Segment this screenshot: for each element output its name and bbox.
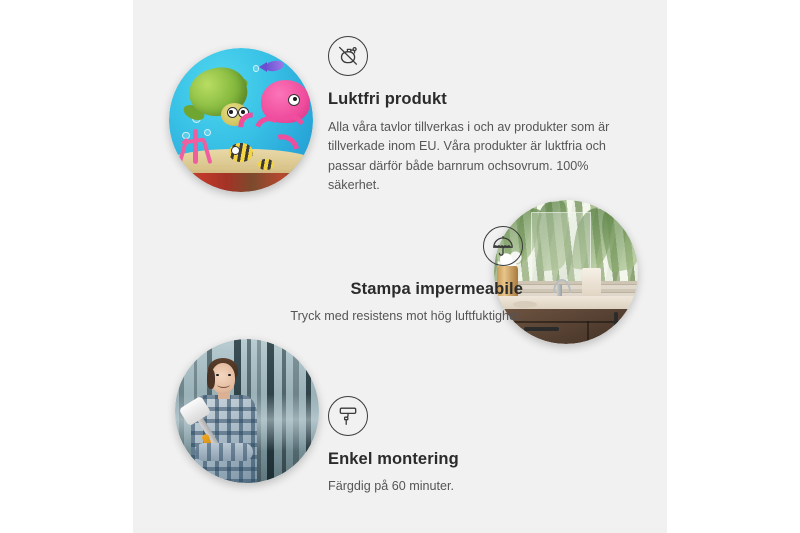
turtle-pupil bbox=[229, 110, 233, 114]
cabinet-seam bbox=[587, 321, 589, 344]
photo-woman-paint-roller-forest-mural bbox=[175, 339, 319, 483]
feature-waterproof: Stampa impermeabile Tryck med resistens … bbox=[193, 226, 523, 326]
feature-title: Stampa impermeabile bbox=[193, 279, 523, 300]
person-eye bbox=[216, 374, 219, 376]
paint-roller-icon bbox=[328, 396, 368, 436]
product-features-panel: Luktfri produkt Alla våra tavlor tillver… bbox=[133, 0, 667, 533]
photo-underwater-kids-mural bbox=[169, 48, 313, 192]
cabinet-handle[interactable] bbox=[614, 312, 618, 331]
blue-fish-tail bbox=[259, 62, 267, 72]
person-eye bbox=[228, 374, 231, 376]
feature-odorless: Luktfri produkt Alla våra tavlor tillver… bbox=[328, 36, 633, 196]
coral-branch bbox=[193, 129, 198, 164]
forest-portrait-scene bbox=[175, 339, 319, 483]
person-folded-arms bbox=[195, 443, 253, 462]
feature-body: Alla våra tavlor tillverkas i och av pro… bbox=[328, 118, 633, 196]
feature-easy-mounting: Enkel montering Färgdig på 60 minuter. bbox=[328, 396, 628, 496]
person-hair-side bbox=[207, 369, 216, 389]
bubble-icon bbox=[253, 65, 259, 71]
feature-title: Luktfri produkt bbox=[328, 89, 633, 110]
screenshot-root: Luktfri produkt Alla våra tavlor tillver… bbox=[0, 0, 800, 533]
feature-body: Färgdig på 60 minuter. bbox=[328, 477, 628, 497]
feature-body: Tryck med resistens mot hög luftfuktighe… bbox=[193, 307, 523, 327]
drawer-handle[interactable] bbox=[524, 327, 559, 331]
sea-floor-rocks bbox=[169, 173, 313, 192]
person-smile bbox=[217, 381, 230, 388]
umbrella-icon bbox=[483, 226, 523, 266]
underwater-scene bbox=[169, 48, 313, 192]
pink-coral bbox=[178, 129, 215, 169]
perfume-bottle-crossed-out-icon bbox=[328, 36, 368, 76]
feature-title: Enkel montering bbox=[328, 449, 628, 470]
coral-branch bbox=[201, 139, 212, 164]
